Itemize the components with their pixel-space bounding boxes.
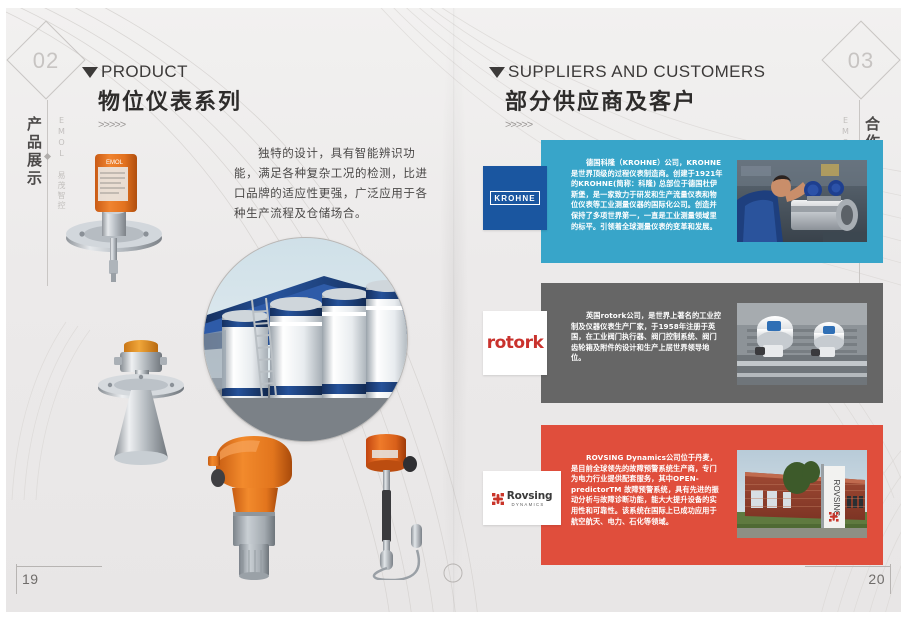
left-page-number: 19 bbox=[22, 571, 39, 587]
left-vertical-title: 产品展示 bbox=[24, 116, 45, 188]
left-heading-english: PRODUCT bbox=[101, 62, 188, 82]
krohne-logo-box: KROHNE bbox=[483, 166, 547, 230]
left-body-text: 独特的设计，具有智能辨识功能，满足各种复杂工况的检测，比进口品牌的适应性更强，广… bbox=[234, 143, 434, 223]
right-footer-tick bbox=[890, 564, 891, 594]
rovsing-logo-icon: Rovsing DYNAMICS bbox=[492, 490, 553, 507]
silo-plant-circle-photo bbox=[203, 237, 408, 442]
left-marker-dot-icon bbox=[44, 153, 51, 160]
rovsing-logo-box: Rovsing DYNAMICS bbox=[483, 471, 561, 525]
supplier-card-krohne: KROHNE 德国科隆（KROHNE）公司，KROHNE 是世界顶级的过程仪表制… bbox=[483, 140, 883, 263]
svg-text:EMOL: EMOL bbox=[106, 160, 124, 166]
left-page-heading: PRODUCT 物位仪表系列 >>>>> bbox=[82, 62, 242, 131]
product-flange-mounted-level-switch: EMOL bbox=[62, 142, 222, 287]
triangle-bullet-icon bbox=[82, 67, 98, 78]
product-ultrasonic-level-sensor bbox=[198, 430, 308, 580]
triangle-bullet-icon bbox=[489, 67, 505, 78]
right-section-number: 03 bbox=[833, 40, 889, 82]
rovsing-logo-subtext: DYNAMICS bbox=[511, 502, 544, 507]
right-heading-english-row: SUPPLIERS AND CUSTOMERS bbox=[489, 62, 765, 82]
rovsing-starburst-icon bbox=[492, 490, 504, 502]
rotork-logo-box: rotork bbox=[483, 311, 547, 375]
rotork-logo-text: rotork bbox=[487, 333, 544, 353]
right-heading-chevrons: >>>>> bbox=[505, 119, 765, 131]
rovsing-logo-text: Rovsing bbox=[507, 490, 553, 502]
left-section-number: 02 bbox=[18, 40, 74, 82]
left-heading-chinese: 物位仪表系列 bbox=[98, 84, 242, 116]
brochure-spread: 02 产品展示 EMOL 易茂智控 PRODUCT 物位仪表系列 >>>>> 独… bbox=[0, 0, 907, 618]
product-cable-type-level-sensor bbox=[345, 428, 445, 580]
right-page-heading: SUPPLIERS AND CUSTOMERS 部分供应商及客户 >>>>> bbox=[489, 62, 765, 131]
product-radar-level-gauge bbox=[84, 332, 202, 467]
right-heading-english: SUPPLIERS AND CUSTOMERS bbox=[508, 62, 765, 82]
left-marker-rule bbox=[47, 100, 48, 286]
supplier-card-rovsing: Rovsing DYNAMICS ROVSING Dynamics公司位于丹麦，… bbox=[483, 425, 883, 565]
left-heading-english-row: PRODUCT bbox=[82, 62, 242, 82]
rotork-photo bbox=[737, 303, 867, 385]
krohne-logo-icon: KROHNE bbox=[483, 166, 547, 230]
left-footer-rule bbox=[16, 566, 102, 567]
rovsing-description: ROVSING Dynamics公司位于丹麦，是目前全球领先的故障预警系统生产商… bbox=[571, 453, 723, 527]
right-page-footer: 20 bbox=[777, 566, 907, 596]
left-page-footer: 19 bbox=[0, 566, 130, 596]
right-page: 03 合作伙伴 EMOL 易茂智控 SUPPLIERS AND CUSTOMER… bbox=[453, 0, 907, 618]
rotork-description: 英国rotork公司，是世界上著名的工业控制及仪器仪表生产厂家，于1958年注册… bbox=[571, 311, 723, 364]
krohne-logo-text: KROHNE bbox=[490, 191, 539, 205]
left-page: 02 产品展示 EMOL 易茂智控 PRODUCT 物位仪表系列 >>>>> 独… bbox=[0, 0, 453, 618]
right-footer-rule bbox=[805, 566, 891, 567]
left-heading-chevrons: >>>>> bbox=[98, 119, 242, 131]
right-heading-chinese: 部分供应商及客户 bbox=[505, 84, 765, 116]
krohne-photo bbox=[737, 160, 867, 242]
right-page-number: 20 bbox=[868, 571, 885, 587]
svg-text:ROVSING: ROVSING bbox=[832, 480, 841, 517]
rovsing-photo: ROVSING bbox=[737, 450, 867, 538]
supplier-card-rotork: rotork 英国rotork公司，是世界上著名的工业控制及仪器仪表生产厂家，于… bbox=[483, 283, 883, 403]
left-footer-tick bbox=[16, 564, 17, 594]
krohne-description: 德国科隆（KROHNE）公司，KROHNE 是世界顶级的过程仪表制造商。创建于1… bbox=[571, 158, 723, 232]
